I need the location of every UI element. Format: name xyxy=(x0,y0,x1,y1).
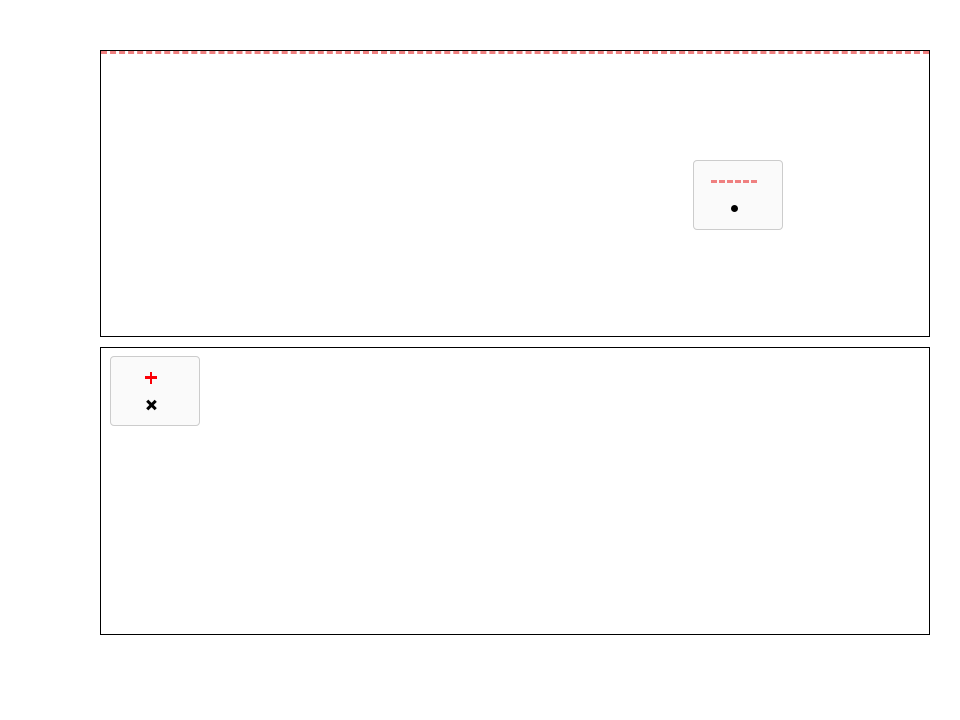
top-panel-legend[interactable] xyxy=(693,160,783,230)
threshold-line xyxy=(101,51,929,54)
cross-marker-icon xyxy=(123,397,179,413)
dashed-line-icon xyxy=(706,180,762,183)
legend-item-measurements[interactable] xyxy=(706,195,770,222)
legend-item-predicted-stars[interactable] xyxy=(123,391,187,418)
plus-marker-icon xyxy=(123,370,179,386)
legend-item-threshold[interactable] xyxy=(706,168,770,195)
legend-item-matched-stars[interactable] xyxy=(123,364,187,391)
bottom-panel-legend[interactable] xyxy=(110,356,200,426)
dot-marker-icon xyxy=(706,205,762,212)
figure-canvas xyxy=(0,0,960,720)
top-panel-axes xyxy=(100,50,930,337)
bottom-panel-axes xyxy=(100,347,930,635)
